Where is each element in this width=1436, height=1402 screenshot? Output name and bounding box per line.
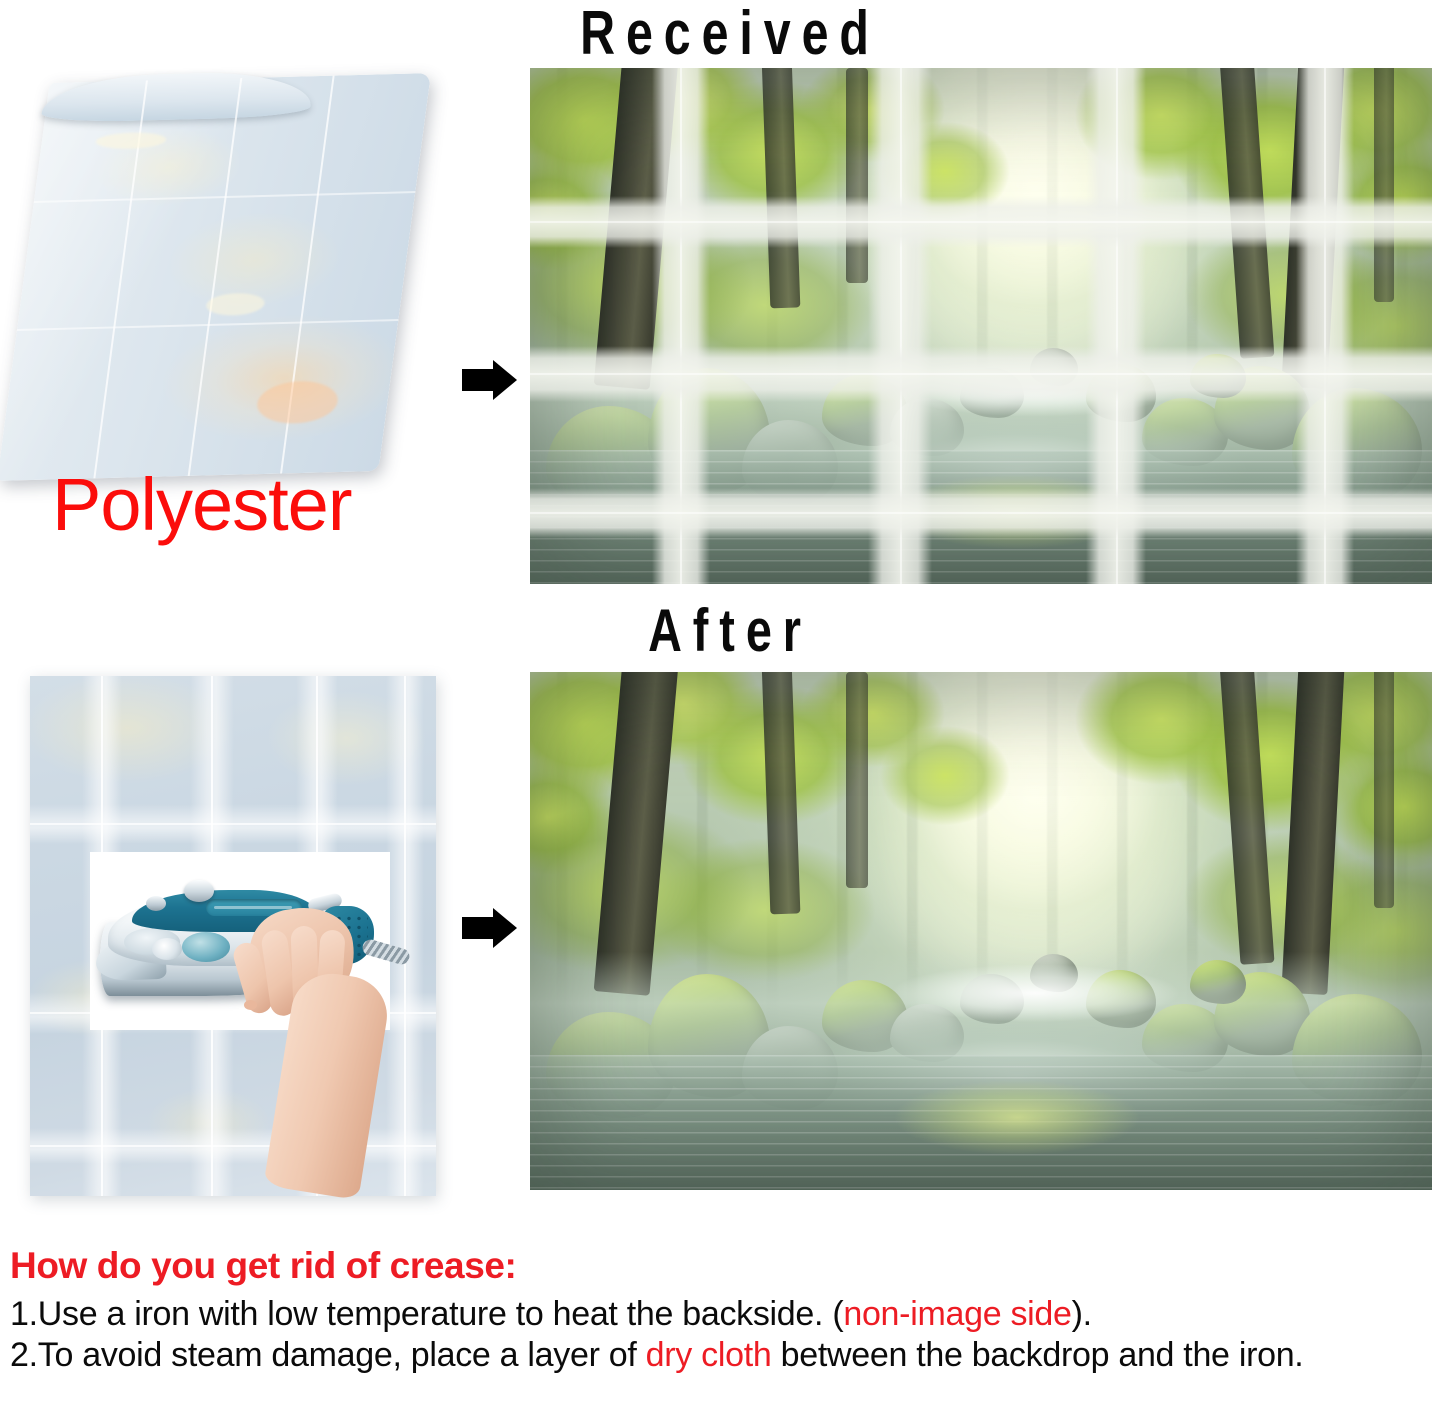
received-title: Received <box>395 0 1066 69</box>
step-1-part-3: ). <box>1072 1295 1092 1333</box>
instructions-heading: How do you get rid of crease: <box>10 1246 1430 1286</box>
fabric-curl <box>40 70 315 123</box>
hand-icon <box>222 900 422 1200</box>
instruction-step-2: 2.To avoid steam damage, place a layer o… <box>10 1335 1430 1376</box>
step-2-part-1: To avoid steam damage, place a layer of <box>38 1336 646 1374</box>
step-2-part-3: between the backdrop and the iron. <box>771 1336 1303 1374</box>
polyester-label: Polyester <box>52 462 351 547</box>
step-1-part-1: Use a iron with low temperature to heat … <box>38 1295 844 1333</box>
fabric-fold-line <box>188 78 243 476</box>
instructions-block: How do you get rid of crease: 1.Use a ir… <box>10 1246 1430 1377</box>
fabric-sheen <box>95 132 167 150</box>
instruction-step-1: 1.Use a iron with low temperature to hea… <box>10 1294 1430 1335</box>
after-photo <box>530 672 1432 1190</box>
folded-fabric-roll-icon <box>0 73 431 481</box>
fabric-sheen <box>255 380 341 424</box>
received-photo <box>530 68 1432 584</box>
right-arrow-icon <box>462 908 518 948</box>
step-1-number: 1. <box>10 1295 38 1333</box>
after-title: After <box>488 596 972 665</box>
fabric-sheen <box>205 293 266 317</box>
step-1-highlight: non-image side <box>843 1295 1071 1333</box>
right-arrow-icon <box>462 360 518 400</box>
step-2-highlight: dry cloth <box>646 1336 772 1374</box>
step-2-number: 2. <box>10 1336 38 1374</box>
